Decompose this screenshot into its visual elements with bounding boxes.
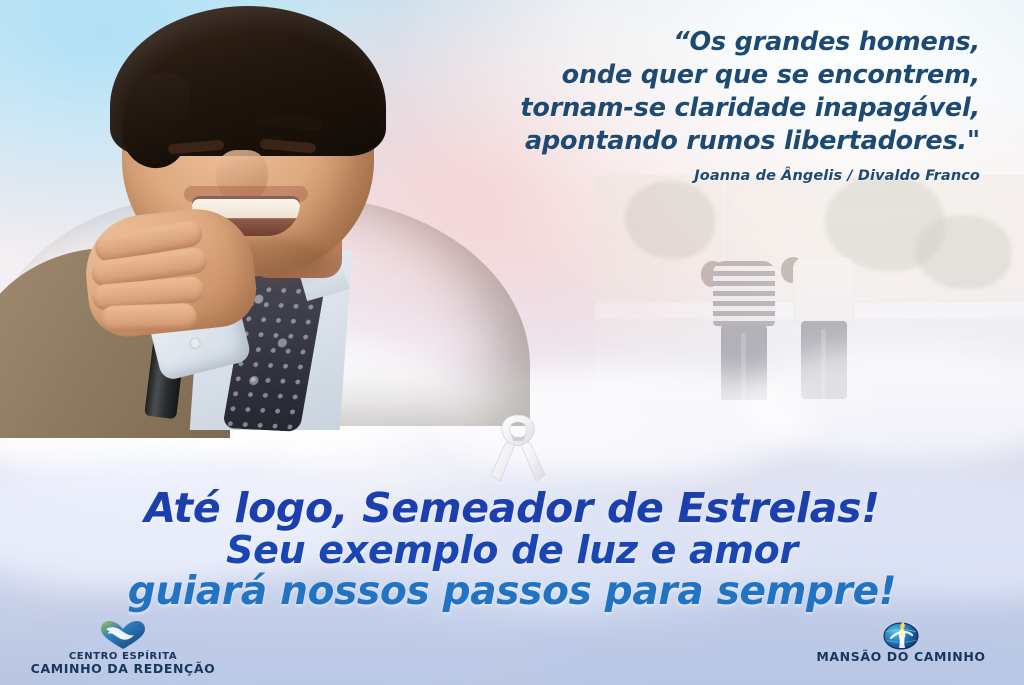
logo-mansao-do-caminho-line-1: MANSÃO DO CAMINHO bbox=[786, 651, 1016, 663]
logo-mansao-do-caminho: MANSÃO DO CAMINHO bbox=[786, 620, 1016, 663]
headline-line-1: Até logo, Semeador de Estrelas! bbox=[0, 487, 1024, 530]
headline-line-3: guiará nossos passos para sempre! bbox=[0, 571, 1024, 613]
bgphoto-sky bbox=[595, 175, 1024, 400]
portrait-hair bbox=[110, 6, 386, 156]
figure-head bbox=[701, 261, 725, 287]
memorial-poster: “Os grandes homens, onde quer que se enc… bbox=[0, 0, 1024, 685]
quote-attribution: Joanna de Ângelis / Divaldo Franco bbox=[420, 168, 980, 184]
logo-centro-espirita-text: CENTRO ESPÍRITA CAMINHO DA REDENÇÃO bbox=[8, 651, 238, 674]
globe-figure-icon bbox=[786, 620, 1016, 650]
quote-line-3: tornam-se claridade inapagável, bbox=[420, 92, 980, 125]
logo-centro-espirita: CENTRO ESPÍRITA CAMINHO DA REDENÇÃO bbox=[8, 620, 238, 674]
bgphoto-wall bbox=[595, 303, 1024, 319]
logo-mansao-do-caminho-text: MANSÃO DO CAMINHO bbox=[786, 651, 1016, 663]
background-photo bbox=[595, 175, 1024, 400]
bgphoto-ground bbox=[595, 319, 1024, 400]
portrait-finger bbox=[100, 303, 197, 332]
quote-line-2: onde quer que se encontrem, bbox=[420, 59, 980, 92]
headline-block: Até logo, Semeador de Estrelas! Seu exem… bbox=[0, 487, 1024, 613]
logo-centro-espirita-line-2: CAMINHO DA REDENÇÃO bbox=[8, 663, 238, 675]
white-ribbon-icon bbox=[487, 411, 549, 483]
bgphoto-tree-left bbox=[625, 181, 715, 259]
figure-torso bbox=[793, 257, 855, 323]
cloud bbox=[740, 344, 1024, 462]
heart-hands-icon bbox=[8, 620, 238, 650]
figure-head bbox=[781, 257, 805, 283]
bgphoto-tree-mid bbox=[825, 175, 945, 271]
figure-legs bbox=[721, 325, 767, 400]
quote-line-4: apontando rumos libertadores." bbox=[420, 125, 980, 158]
quote-block: “Os grandes homens, onde quer que se enc… bbox=[420, 26, 980, 184]
bgphoto-pole bbox=[721, 179, 727, 305]
bgphoto-palm-right bbox=[915, 215, 1011, 289]
headline-line-2: Seu exemplo de luz e amor bbox=[0, 530, 1024, 571]
quote-line-1: “Os grandes homens, bbox=[420, 26, 980, 59]
figure-legs bbox=[801, 321, 847, 399]
figure-torso bbox=[713, 261, 775, 327]
